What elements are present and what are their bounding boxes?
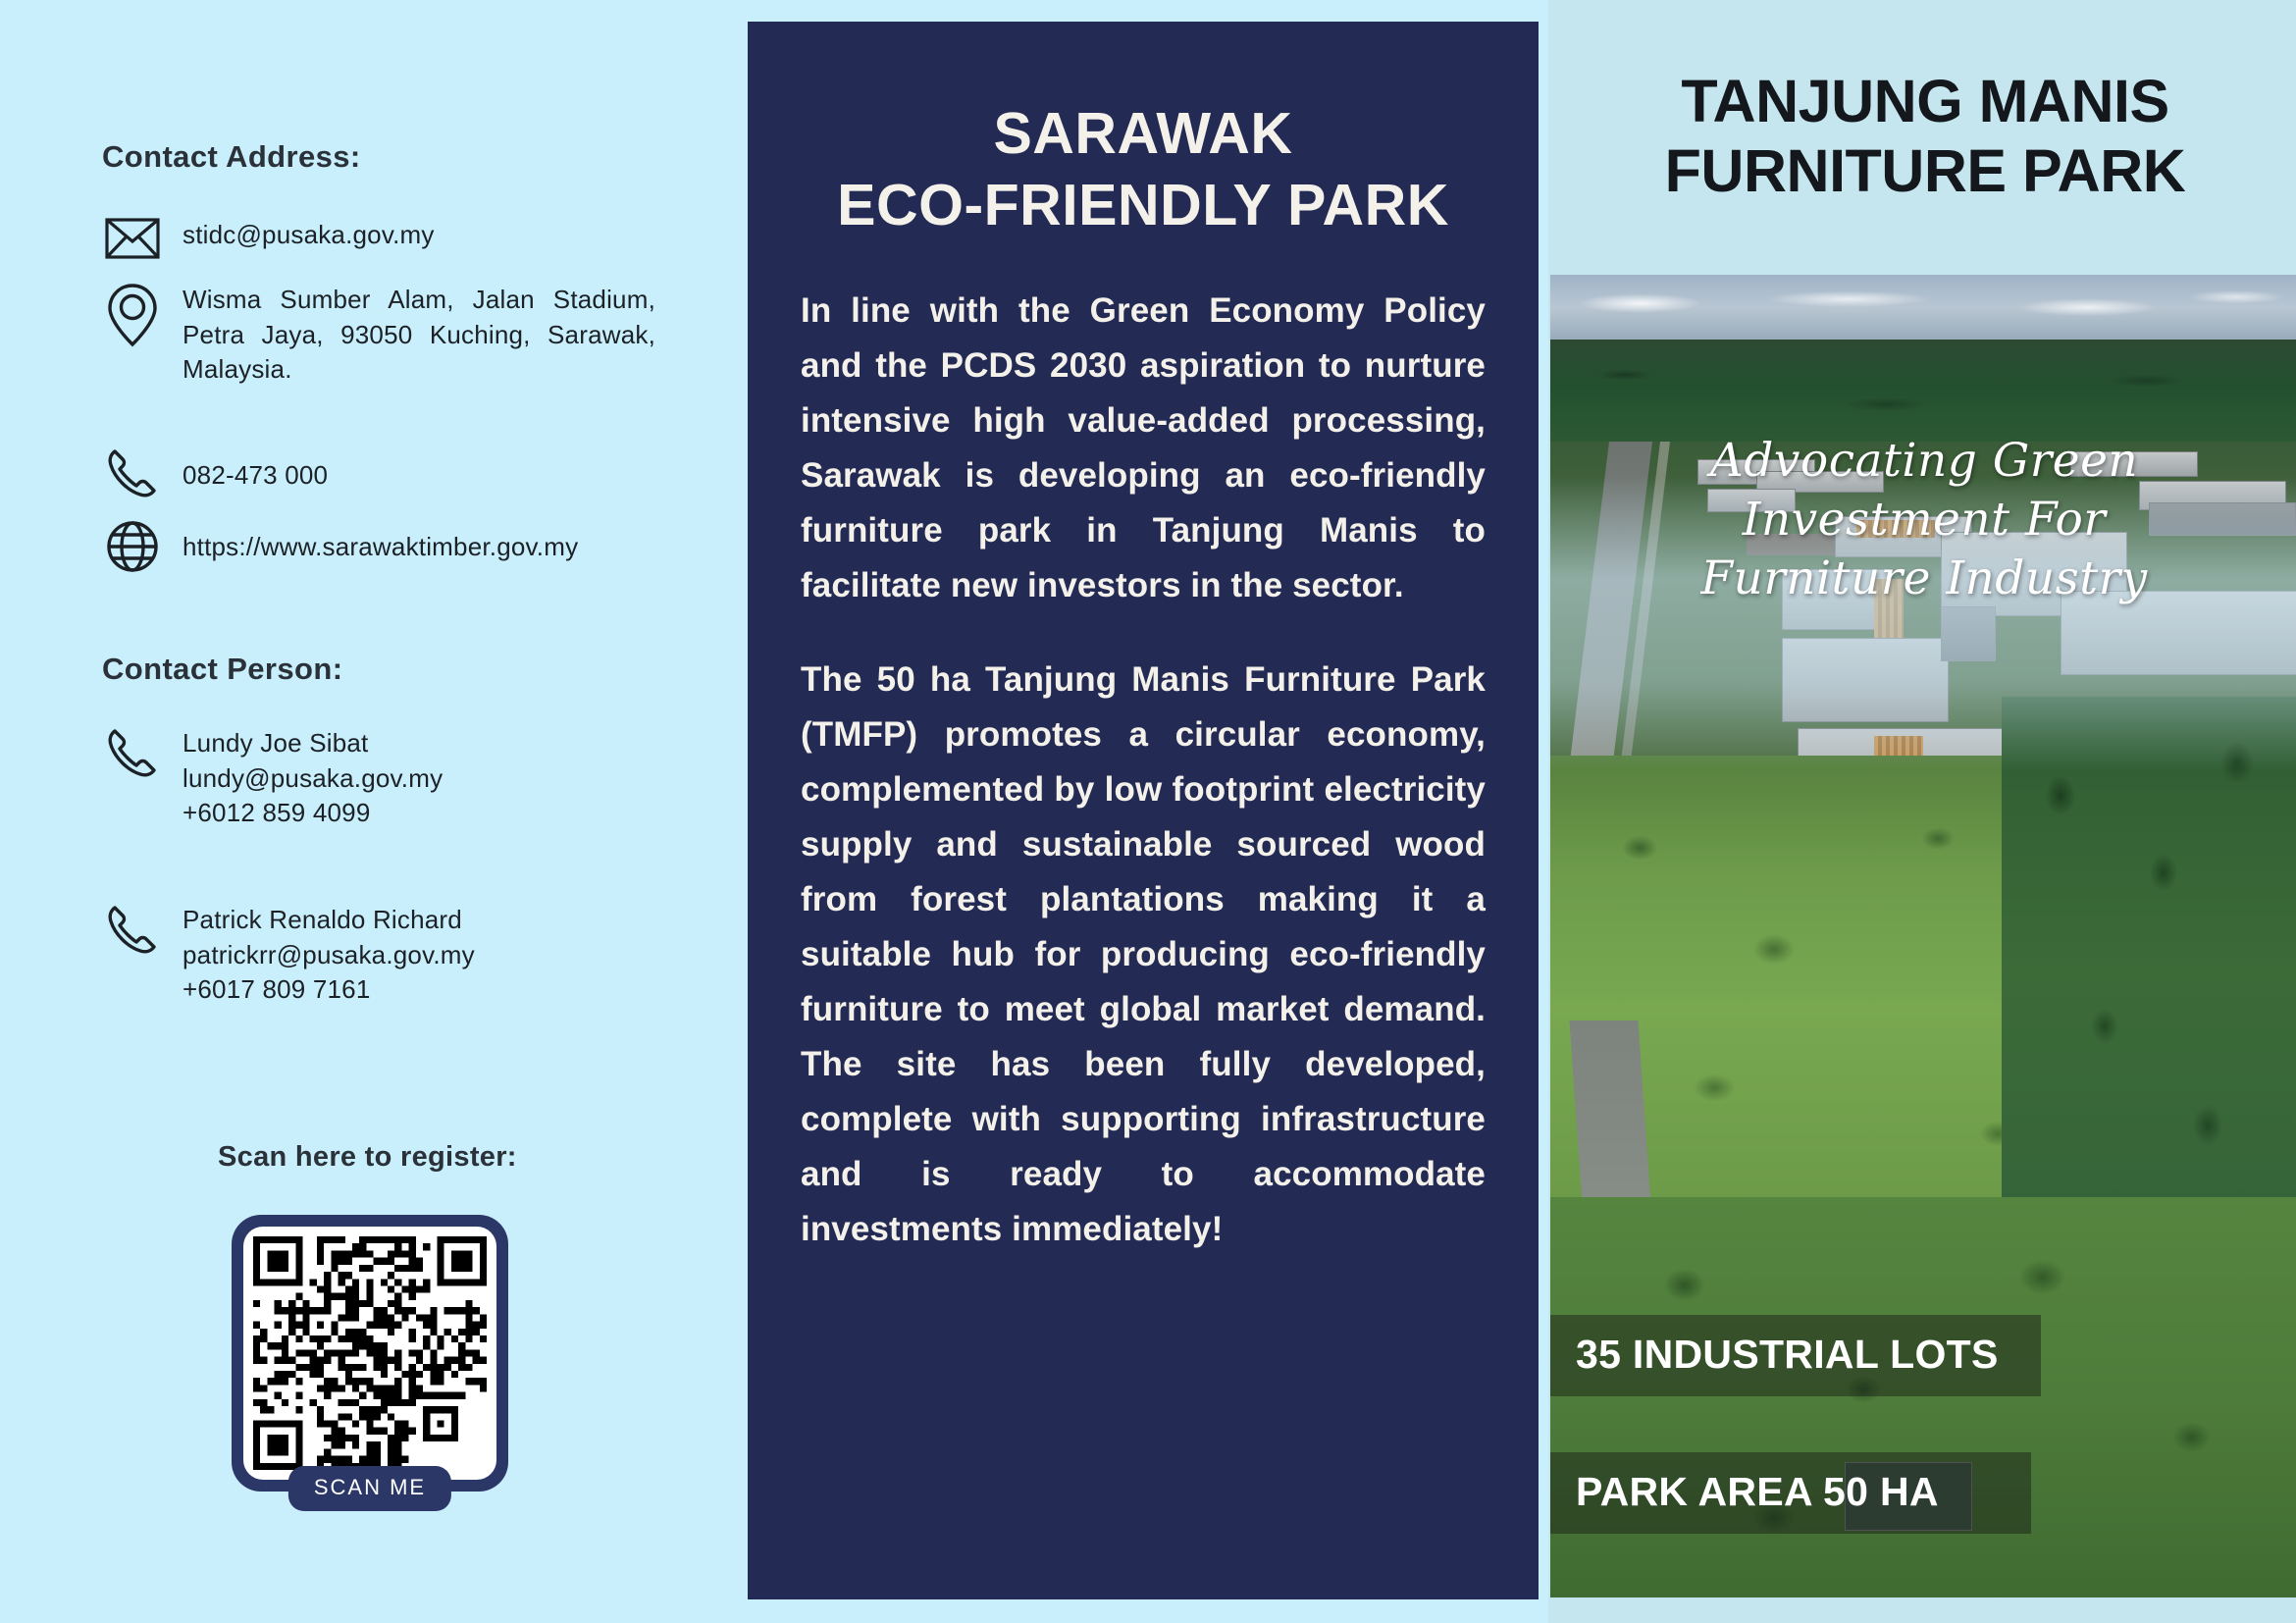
contact-row-email[interactable]: stidc@pusaka.gov.my	[102, 218, 435, 259]
tagline-overlay: Advocating Green Investment For Furnitur…	[1578, 432, 2270, 608]
phone-icon	[102, 726, 163, 779]
contact-person-2[interactable]: Patrick Renaldo Richard patrickrr@pusaka…	[102, 903, 475, 1008]
center-title-line-2: ECO-FRIENDLY PARK	[801, 170, 1486, 241]
tagline-line-1: Advocating Green Investment For	[1578, 432, 2270, 550]
aerial-park-photo: Advocating Green Investment For Furnitur…	[1550, 275, 2296, 1597]
person-2-name: Patrick Renaldo Richard	[183, 903, 475, 938]
contact-address-value: Wisma Sumber Alam, Jalan Stadium, Petra …	[183, 283, 655, 388]
contact-row-address[interactable]: Wisma Sumber Alam, Jalan Stadium, Petra …	[102, 283, 655, 388]
photo-right-forest	[2002, 697, 2296, 1246]
person-2-email: patrickrr@pusaka.gov.my	[183, 938, 475, 973]
right-title-line-2: FURNITURE PARK	[1562, 136, 2288, 206]
center-paragraph-1: In line with the Green Economy Policy an…	[801, 284, 1486, 613]
photo-lower-vegetation	[1550, 1197, 2296, 1597]
scan-me-badge: SCAN ME	[288, 1466, 451, 1511]
right-title: TANJUNG MANIS FURNITURE PARK	[1562, 67, 2288, 207]
qr-code-image	[253, 1236, 487, 1470]
center-title-line-1: SARAWAK	[801, 98, 1486, 170]
contact-phone-value: 082-473 000	[183, 446, 328, 494]
tagline-line-2: Furniture Industry	[1578, 550, 2270, 608]
person-1-email: lundy@pusaka.gov.my	[183, 761, 443, 797]
contact-website-value: https://www.sarawaktimber.gov.my	[183, 520, 578, 565]
left-contact-panel: Contact Address: stidc@pusaka.gov.my Wis…	[0, 0, 748, 1623]
envelope-icon	[102, 218, 163, 259]
center-title: SARAWAK ECO-FRIENDLY PARK	[801, 98, 1486, 241]
contact-address-heading: Contact Address:	[102, 139, 361, 175]
brochure-page: Contact Address: stidc@pusaka.gov.my Wis…	[0, 0, 2296, 1623]
location-pin-icon	[102, 283, 163, 347]
stat-industrial-lots: 35 INDUSTRIAL LOTS	[1550, 1315, 2041, 1396]
center-description-panel: SARAWAK ECO-FRIENDLY PARK In line with t…	[748, 22, 1539, 1599]
contact-row-website[interactable]: https://www.sarawaktimber.gov.my	[102, 520, 578, 573]
phone-icon	[102, 903, 163, 956]
person-1-name: Lundy Joe Sibat	[183, 726, 443, 761]
center-body: In line with the Green Economy Policy an…	[801, 284, 1486, 1257]
person-1-phone: +6012 859 4099	[183, 796, 443, 831]
phone-icon	[102, 446, 163, 499]
stat-park-area: PARK AREA 50 HA	[1550, 1452, 2031, 1534]
contact-person-1[interactable]: Lundy Joe Sibat lundy@pusaka.gov.my +601…	[102, 726, 443, 831]
photo-building	[1941, 606, 1996, 661]
qr-heading: Scan here to register:	[218, 1141, 517, 1174]
qr-code-inner	[243, 1227, 496, 1480]
person-2-phone: +6017 809 7161	[183, 972, 475, 1008]
photo-clouds	[1550, 283, 2296, 324]
contact-person-heading: Contact Person:	[102, 652, 342, 687]
photo-building	[1782, 638, 1949, 722]
contact-row-phone[interactable]: 082-473 000	[102, 446, 328, 499]
right-hero-panel: TANJUNG MANIS FURNITURE PARK	[1548, 0, 2296, 1623]
contact-email-value: stidc@pusaka.gov.my	[183, 218, 435, 253]
globe-icon	[102, 520, 163, 573]
qr-code-block[interactable]: SCAN ME	[232, 1215, 508, 1492]
right-title-line-1: TANJUNG MANIS	[1562, 67, 2288, 136]
center-paragraph-2: The 50 ha Tanjung Manis Furniture Park (…	[801, 653, 1486, 1257]
